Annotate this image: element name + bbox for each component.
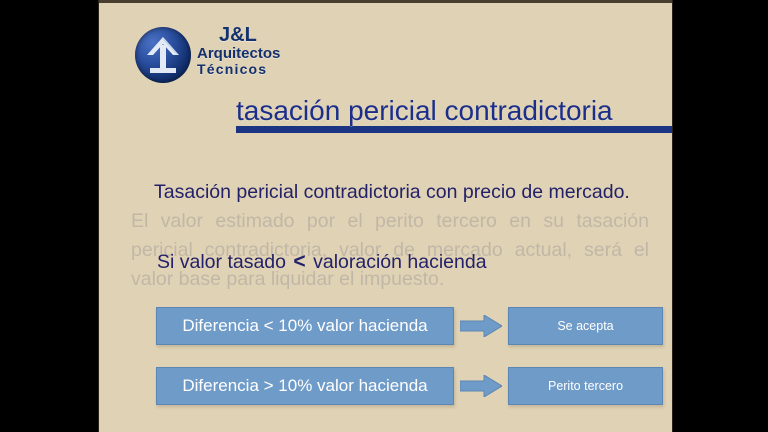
title-block: tasación pericial contradictoria (236, 96, 673, 133)
condition-box: Diferencia > 10% valor hacienda (156, 367, 454, 405)
logo-line-tecnicos: Técnicos (197, 62, 337, 76)
flow-row: Diferencia > 10% valor hacienda Perito t… (99, 367, 673, 407)
body-line-condition: Si valor tasado < valoración hacienda (157, 249, 657, 275)
logo-line-arquitectos: Arquitectos (197, 46, 337, 61)
logo-wordmark: J&L Arquitectos Técnicos (197, 25, 337, 76)
company-logo: J&L Arquitectos Técnicos (135, 25, 335, 91)
result-box: Perito tercero (508, 367, 663, 405)
less-than-operator-glyph: < (291, 250, 307, 273)
right-arrow-icon (460, 315, 502, 337)
video-letterbox-frame: J&L Arquitectos Técnicos tasación perici… (0, 0, 768, 432)
condition-suffix-text: valoración hacienda (313, 251, 486, 273)
logo-circle-arrow-icon (135, 27, 191, 83)
flow-row: Diferencia < 10% valor hacienda Se acept… (99, 307, 673, 347)
slide-top-edge (99, 0, 672, 3)
logo-brand-text: J&L (219, 25, 337, 45)
condition-box: Diferencia < 10% valor hacienda (156, 307, 454, 345)
title-underline-rule (236, 126, 673, 133)
condition-prefix-text: Si valor tasado (157, 251, 286, 273)
page-title: tasación pericial contradictoria (236, 96, 673, 125)
body-line-market-price: Tasación pericial contradictoria con pre… (154, 178, 644, 206)
right-arrow-icon (460, 375, 502, 397)
presentation-slide: J&L Arquitectos Técnicos tasación perici… (98, 0, 673, 432)
result-box: Se acepta (508, 307, 663, 345)
